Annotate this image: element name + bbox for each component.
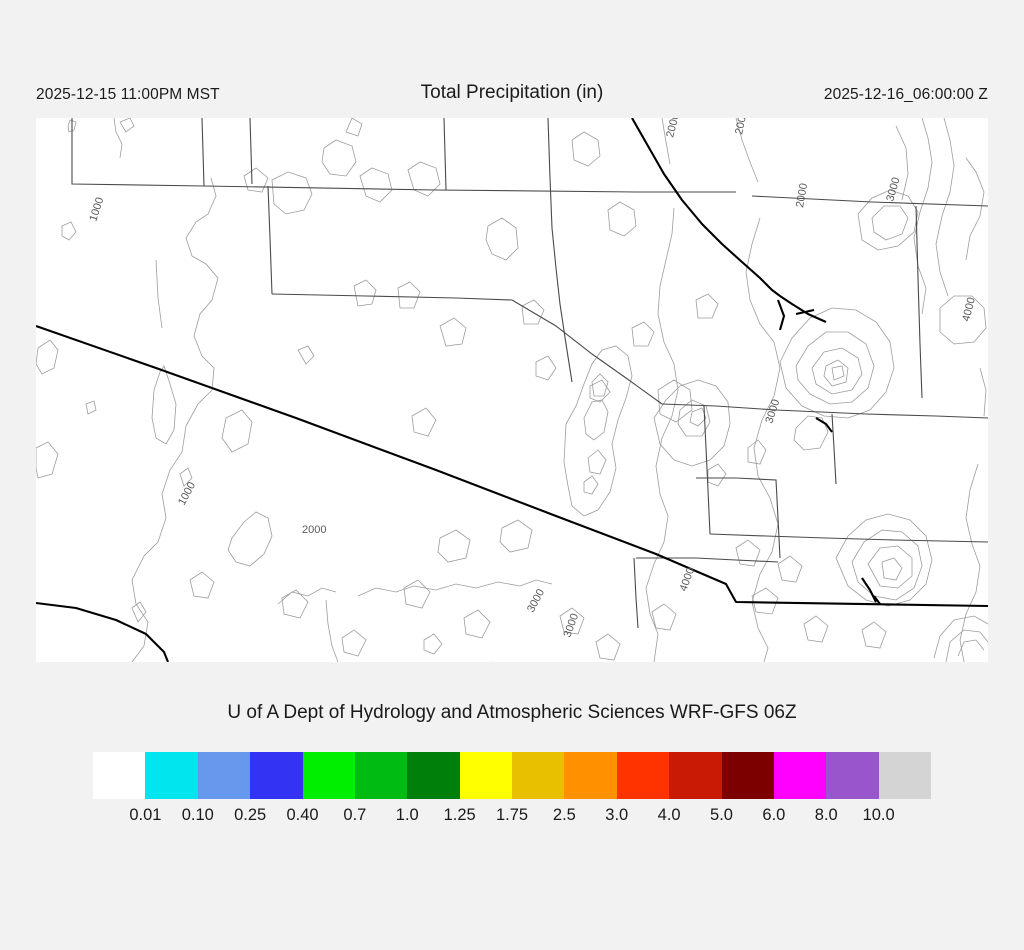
colorbar-tick-1.25: 1.25	[444, 806, 476, 825]
colorbar-cell-4[interactable]	[303, 752, 355, 799]
colorbar-tick-1.75: 1.75	[496, 806, 528, 825]
colorbar-cell-6[interactable]	[407, 752, 459, 799]
precipitation-colorbar[interactable]	[93, 752, 931, 799]
colorbar-cell-7[interactable]	[460, 752, 512, 799]
figure-caption: U of A Dept of Hydrology and Atmospheric…	[0, 702, 1024, 724]
colorbar-tick-6.0: 6.0	[762, 806, 785, 825]
colorbar-cell-3[interactable]	[250, 752, 302, 799]
colorbar-cell-15[interactable]	[879, 752, 931, 799]
valid-time-utc: 2025-12-16_06:00:00 Z	[824, 86, 988, 104]
colorbar-tick-8.0: 8.0	[815, 806, 838, 825]
colorbar-cell-14[interactable]	[826, 752, 878, 799]
colorbar-cell-8[interactable]	[512, 752, 564, 799]
colorbar-cell-0[interactable]	[93, 752, 145, 799]
colorbar-cell-10[interactable]	[617, 752, 669, 799]
colorbar-cell-1[interactable]	[145, 752, 197, 799]
colorbar-tick-3.0: 3.0	[605, 806, 628, 825]
colorbar-cell-2[interactable]	[198, 752, 250, 799]
colorbar-tick-1.0: 1.0	[396, 806, 419, 825]
forecast-figure: 2025-12-15 11:00PM MST Total Precipitati…	[0, 0, 1024, 950]
colorbar-tick-0.10: 0.10	[182, 806, 214, 825]
colorbar-cell-5[interactable]	[355, 752, 407, 799]
colorbar-cell-12[interactable]	[722, 752, 774, 799]
figure-header: 2025-12-15 11:00PM MST Total Precipitati…	[0, 86, 1024, 112]
colorbar-tick-0.25: 0.25	[234, 806, 266, 825]
colorbar-tick-4.0: 4.0	[658, 806, 681, 825]
map-panel[interactable]: 1000 1000 2000 2000 2000 2000 3000 3000 …	[36, 118, 988, 662]
colorbar-tick-10.0: 10.0	[863, 806, 895, 825]
colorbar-cell-11[interactable]	[669, 752, 721, 799]
svg-text:2000: 2000	[302, 524, 326, 536]
colorbar-cell-13[interactable]	[774, 752, 826, 799]
colorbar-tick-0.7: 0.7	[343, 806, 366, 825]
colorbar-tick-0.01: 0.01	[129, 806, 161, 825]
map-canvas: 1000 1000 2000 2000 2000 2000 3000 3000 …	[36, 118, 988, 662]
colorbar-tick-5.0: 5.0	[710, 806, 733, 825]
colorbar-cell-9[interactable]	[564, 752, 616, 799]
colorbar-tick-labels: 0.010.100.250.400.71.01.251.752.53.04.05…	[93, 806, 931, 832]
colorbar-tick-2.5: 2.5	[553, 806, 576, 825]
colorbar-tick-0.40: 0.40	[286, 806, 318, 825]
